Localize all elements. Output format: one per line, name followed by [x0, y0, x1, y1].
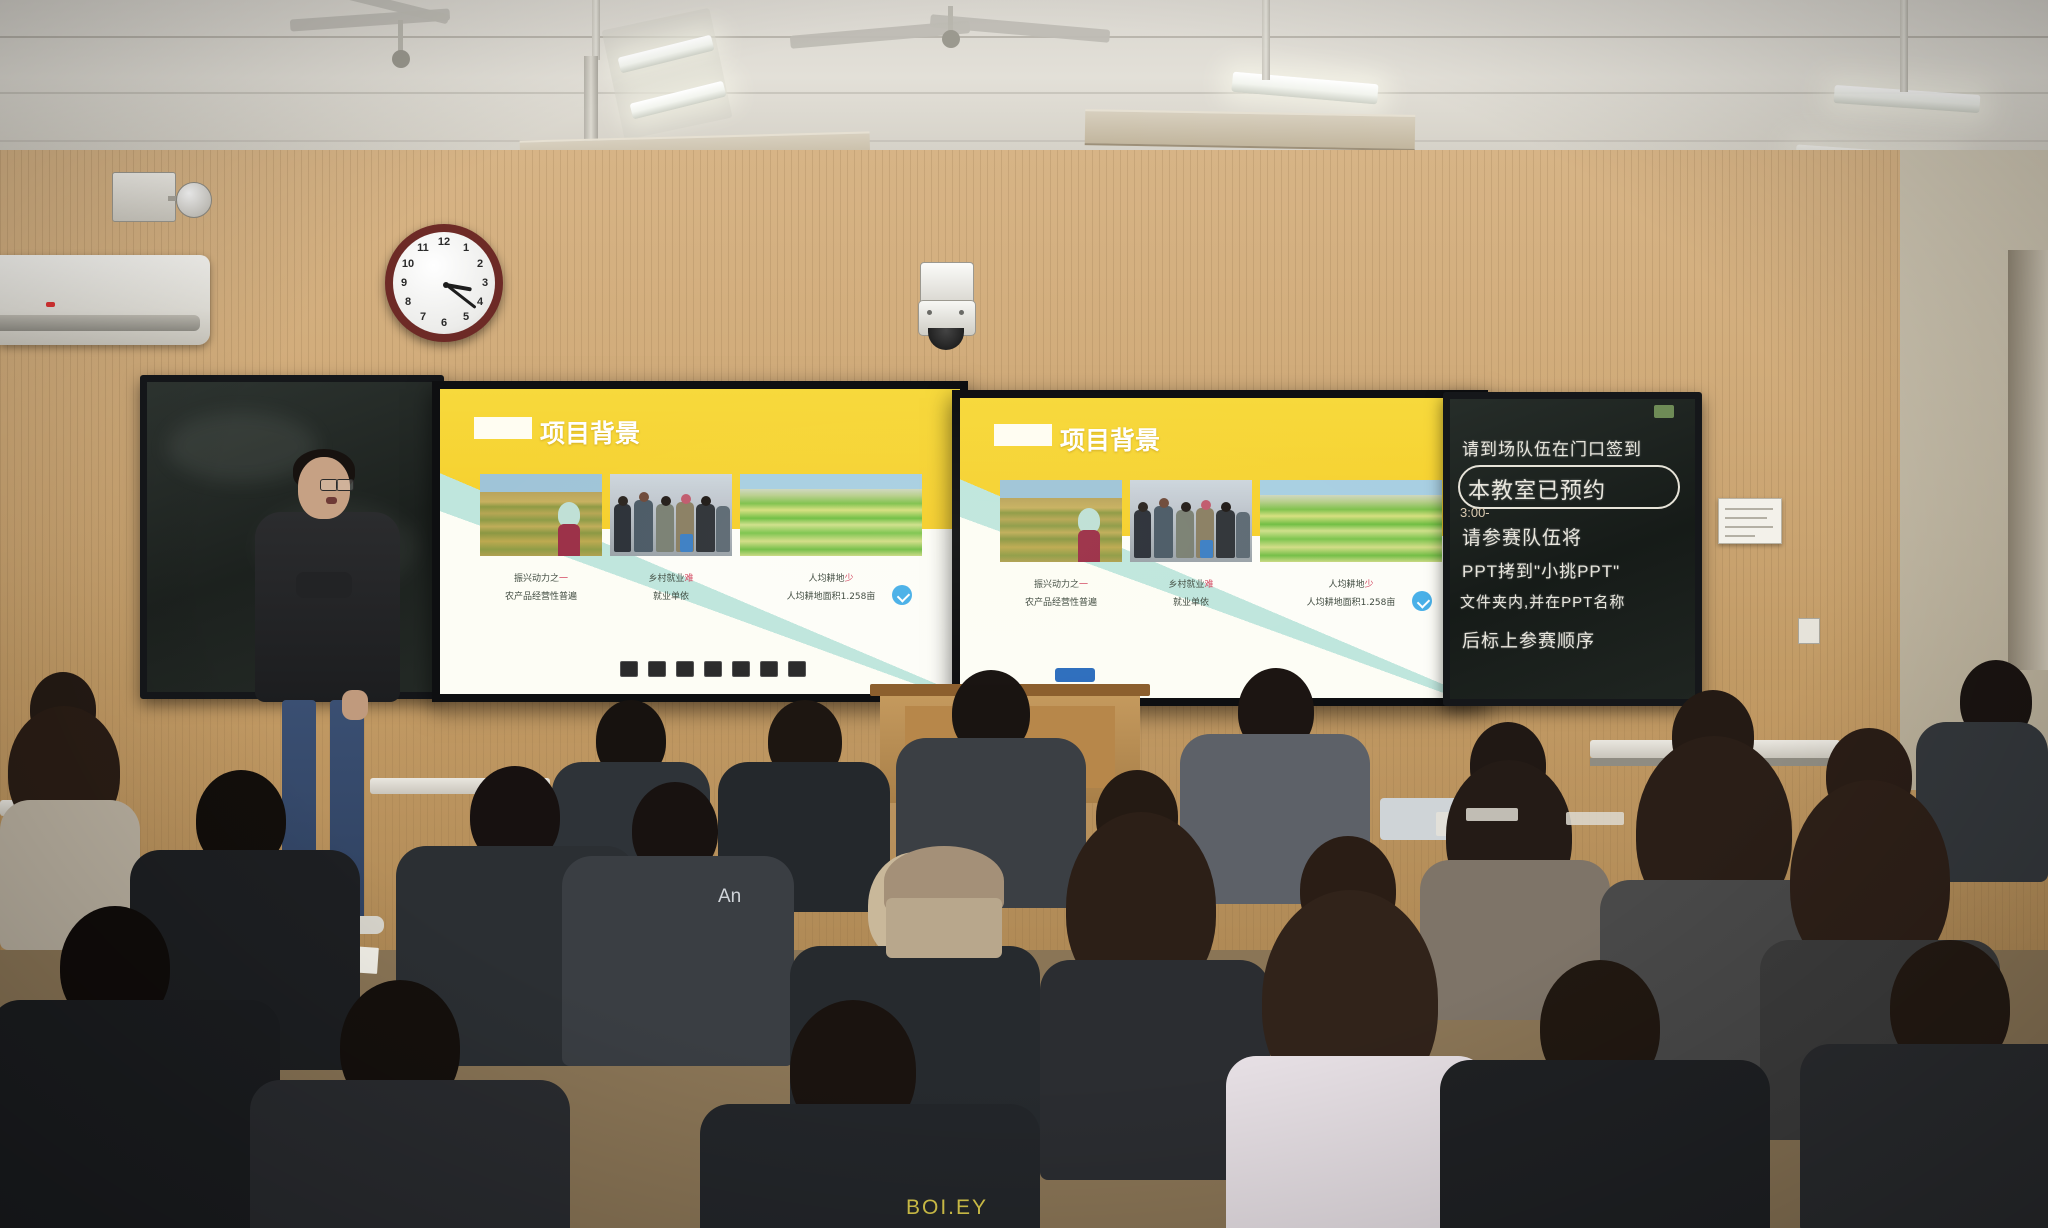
- jacket-text-logo: BOI.EY: [906, 1196, 1056, 1218]
- caption-accent: 少: [845, 574, 854, 584]
- ceiling-seam: [0, 36, 2048, 38]
- slide-title: 项目背景: [1060, 421, 1160, 457]
- wall-beam: [1085, 109, 1416, 151]
- blackboard-line-3: 请参赛队伍将: [1462, 523, 1582, 550]
- blackboard-line-6: 后标上参赛顺序: [1462, 627, 1595, 653]
- blue-box-item: [1055, 668, 1095, 682]
- slide-photo-farmland: [1000, 480, 1122, 562]
- farmland-image: [1000, 480, 1122, 562]
- ceiling-pipe: [1262, 0, 1270, 80]
- aerial-field-image: [1260, 480, 1442, 562]
- toolbar-button-select[interactable]: [704, 661, 722, 677]
- blackboard-line-4: PPT拷到"小挑PPT": [1462, 557, 1620, 582]
- clock-number: 9: [396, 277, 412, 289]
- interactive-display-left[interactable]: 项目背景: [432, 381, 968, 702]
- toolbar-button-back[interactable]: [620, 661, 638, 677]
- ceiling-seam: [0, 92, 2048, 94]
- presenter-collar: [296, 572, 352, 598]
- caption-accent: 难: [1205, 580, 1214, 590]
- blackboard-right: 请到场队伍在门口签到 本教室已预约 3:00- 请参赛队伍将 PPT拷到"小挑P…: [1443, 392, 1702, 706]
- caption-text: 乡村就业: [648, 574, 684, 584]
- wall-speaker: [112, 172, 176, 222]
- caption-accent: 难: [685, 574, 694, 584]
- caption-text: 振兴动力之: [1034, 580, 1079, 590]
- slide-caption-top: 人均耕地少: [740, 571, 922, 584]
- slide-right: 项目背景: [960, 398, 1480, 698]
- display-toolbar[interactable]: [620, 661, 806, 677]
- slide-title-block: [474, 417, 532, 439]
- interactive-display-right[interactable]: 项目背景: [952, 390, 1488, 706]
- toolbar-button-grid[interactable]: [760, 661, 778, 677]
- wall-air-conditioner: [0, 255, 210, 345]
- camera-screw: [927, 310, 932, 315]
- toolbar-button-pen[interactable]: [648, 661, 666, 677]
- classroom-scene: 12 1 2 3 4 5 6 7 8 9 10 11: [0, 0, 2048, 1228]
- clock-number: 1: [458, 242, 474, 254]
- caption-text: 振兴动力之: [514, 574, 559, 584]
- chalk-holder-marker: [1654, 405, 1674, 418]
- classroom-door[interactable]: [2008, 250, 2048, 670]
- presenter-glasses: [336, 479, 354, 491]
- slide-check-badge: [1412, 591, 1432, 611]
- wall-light-switch[interactable]: [1798, 618, 1820, 644]
- slide-photo-aerial: [1260, 480, 1442, 562]
- slide-check-badge: [892, 585, 912, 605]
- photo-figure: [558, 502, 580, 556]
- camera-screw: [959, 310, 964, 315]
- aerial-field-image: [740, 474, 922, 556]
- slide-title-block: [994, 424, 1052, 446]
- slide-caption-top: 人均耕地少: [1260, 577, 1442, 590]
- light-frame: [602, 8, 733, 140]
- slide-caption-bottom: 农产品经营性普遍: [994, 595, 1128, 608]
- toolbar-button-eraser[interactable]: [676, 661, 694, 677]
- presenter-head: [298, 457, 350, 519]
- clock-number: 2: [472, 258, 488, 270]
- caption-text: 人均耕地: [1328, 580, 1364, 590]
- clock-number: 7: [415, 311, 431, 323]
- jacket-text-logo: An: [718, 886, 790, 904]
- wall-clock: 12 1 2 3 4 5 6 7 8 9 10 11: [385, 224, 503, 342]
- ac-indicator-led: [46, 302, 55, 307]
- farmland-image: [480, 474, 602, 556]
- clock-number: 11: [415, 242, 431, 254]
- beanie-brim: [886, 898, 1002, 958]
- slide-photo-crowd: [1130, 480, 1252, 562]
- caption-text: 人均耕地: [808, 574, 844, 584]
- blackboard-line-1: 请到场队伍在门口签到: [1462, 435, 1642, 460]
- toolbar-button-annotate[interactable]: [732, 661, 750, 677]
- slide-caption-bottom: 就业单依: [610, 589, 732, 602]
- slide-caption-bottom: 就业单依: [1130, 595, 1252, 608]
- jacket-logo-patch: [1566, 812, 1624, 825]
- ceiling-pipe: [592, 0, 600, 60]
- jacket-logo-patch: [1466, 808, 1518, 821]
- blackboard-time-note: 3:00-: [1460, 505, 1490, 520]
- toolbar-button-more[interactable]: [788, 661, 806, 677]
- slide-photo-aerial: [740, 474, 922, 556]
- caption-text: 乡村就业: [1168, 580, 1204, 590]
- slide-title: 项目背景: [540, 414, 640, 450]
- ac-vent: [0, 315, 200, 331]
- caption-accent: 一: [1079, 580, 1088, 590]
- clock-number: 12: [436, 236, 452, 248]
- presenter-hand: [342, 690, 368, 720]
- clock-center-pin: [443, 282, 449, 288]
- slide-caption-top: 乡村就业难: [1130, 577, 1252, 590]
- blackboard-line-5: 文件夹内,并在PPT名称: [1460, 591, 1625, 612]
- slide-left: 项目背景: [440, 389, 960, 694]
- blackboard-line-2: 本教室已预约: [1468, 473, 1606, 505]
- wall-notice-paper: [1718, 498, 1782, 544]
- slide-photo-crowd: [610, 474, 732, 556]
- clock-number: 10: [400, 258, 416, 270]
- caption-accent: 一: [559, 574, 568, 584]
- ceiling-pipe: [1900, 0, 1908, 92]
- slide-caption-top: 乡村就业难: [610, 571, 732, 584]
- clock-number: 3: [477, 277, 493, 289]
- slide-caption-top: 振兴动力之一: [480, 571, 602, 584]
- caption-accent: 少: [1365, 580, 1374, 590]
- presenter-body: [255, 512, 400, 702]
- clock-number: 8: [400, 296, 416, 308]
- clock-number: 6: [436, 317, 452, 329]
- slide-caption-bottom: 农产品经营性普遍: [474, 589, 608, 602]
- slide-caption-top: 振兴动力之一: [1000, 577, 1122, 590]
- photo-figure: [1078, 508, 1100, 562]
- clock-number: 5: [458, 311, 474, 323]
- clock-face: 12 1 2 3 4 5 6 7 8 9 10 11: [393, 232, 495, 334]
- presenter-mouth: [326, 497, 337, 504]
- speaker-dome: [176, 182, 212, 218]
- ceiling-seam: [0, 140, 2048, 142]
- slide-photo-farmland: [480, 474, 602, 556]
